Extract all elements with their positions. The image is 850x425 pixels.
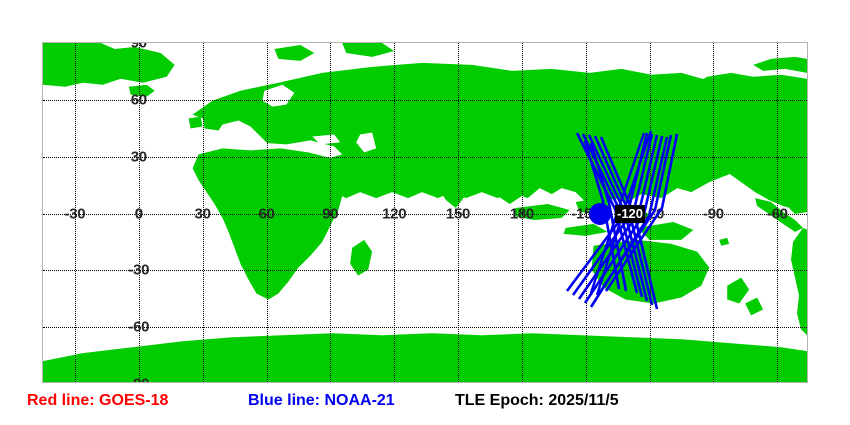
legend-tle-epoch: TLE Epoch: 2025/11/5 bbox=[455, 392, 619, 410]
map-legend: Red line: GOES-18 Blue line: NOAA-21 TLE… bbox=[0, 392, 850, 422]
world-map-panel[interactable]: -30 0 30 60 90 120 150 180 -150 -120 -90… bbox=[42, 42, 808, 383]
noaa21-marker[interactable] bbox=[589, 203, 611, 225]
legend-noaa21: Blue line: NOAA-21 bbox=[248, 392, 395, 410]
marker-label: -120 bbox=[615, 205, 645, 223]
legend-goes18: Red line: GOES-18 bbox=[27, 392, 168, 410]
satellite-track-map-page: -30 0 30 60 90 120 150 180 -150 -120 -90… bbox=[0, 0, 850, 425]
satellite-overlay: -120 bbox=[43, 43, 807, 382]
orbit-track-layer bbox=[43, 43, 808, 383]
